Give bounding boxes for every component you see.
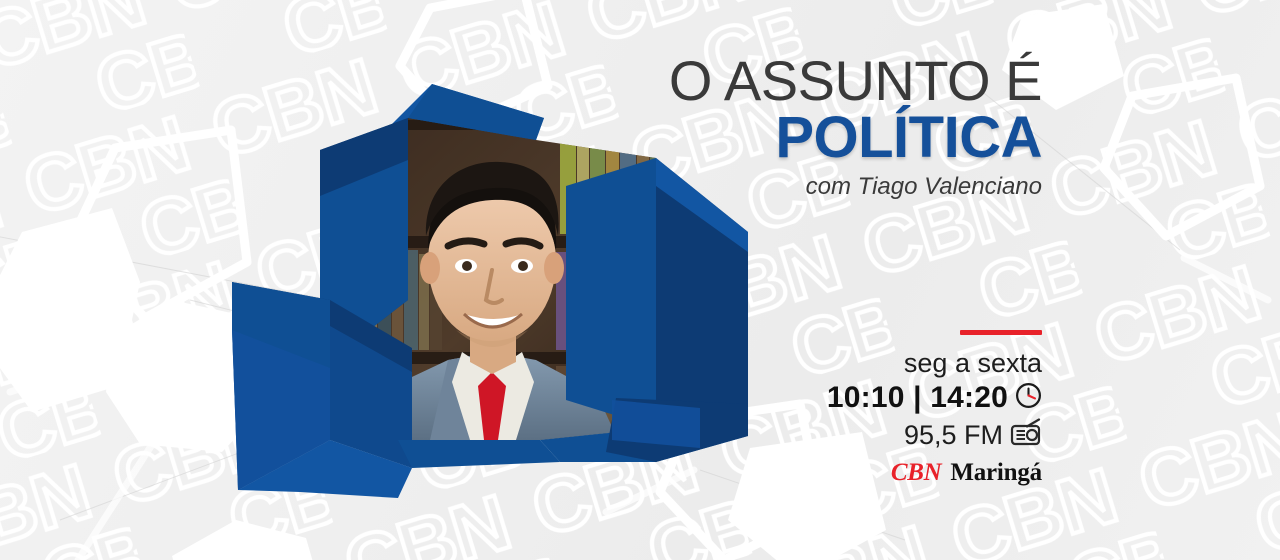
red-accent-rule — [960, 330, 1042, 335]
show-title-block: O ASSUNTO É POLÍTICA com Tiago Valencian… — [482, 52, 1042, 202]
schedule-frequency: 95,5 FM — [904, 417, 1003, 453]
schedule-days: seg a sexta — [622, 347, 1042, 379]
page-title-highlight: POLÍTICA — [482, 108, 1042, 168]
schedule-block: seg a sexta 10:10 | 14:20 95,5 FM — [622, 330, 1042, 487]
schedule-times: 10:10 | 14:20 — [827, 379, 1008, 417]
clock-icon — [1015, 382, 1042, 414]
station-logo-brand: CBN — [891, 459, 942, 487]
radio-show-banner: CBN CBN — [0, 0, 1280, 560]
page-title: O ASSUNTO É — [482, 52, 1042, 110]
schedule-times-row: 10:10 | 14:20 — [622, 379, 1042, 417]
station-logo: CBN Maringá — [622, 459, 1042, 487]
schedule-frequency-row: 95,5 FM — [622, 417, 1042, 453]
host-subtitle: com Tiago Valenciano — [482, 172, 1042, 202]
station-logo-city: Maringá — [950, 459, 1042, 487]
radio-icon — [1010, 418, 1042, 452]
